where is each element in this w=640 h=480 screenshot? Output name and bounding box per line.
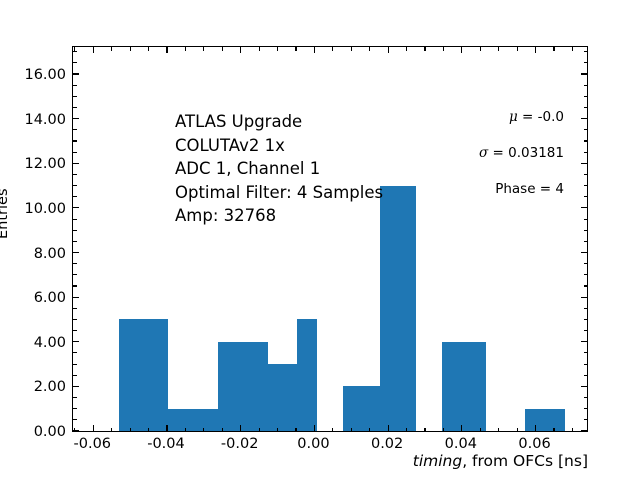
y-axis-tick-labels: 0.002.004.006.008.0010.0012.0014.0016.00 bbox=[0, 46, 66, 432]
axis-tick bbox=[581, 430, 587, 431]
axis-tick bbox=[517, 47, 518, 51]
axis-tick bbox=[73, 274, 77, 275]
axis-tick bbox=[480, 428, 481, 432]
y-tick-label: 16.00 bbox=[24, 68, 66, 83]
histogram-bar bbox=[380, 186, 417, 431]
axis-tick bbox=[73, 252, 79, 253]
axis-tick bbox=[73, 375, 77, 376]
stat-symbol: Phase bbox=[495, 181, 535, 197]
axis-tick bbox=[73, 163, 79, 164]
axis-tick bbox=[535, 47, 536, 53]
x-tick-label: 0.02 bbox=[371, 437, 403, 452]
axis-tick bbox=[73, 96, 77, 97]
axis-tick bbox=[93, 47, 94, 53]
x-axis-label-italic: timing bbox=[413, 452, 462, 470]
axis-tick bbox=[332, 428, 333, 432]
axis-tick bbox=[73, 341, 79, 342]
y-tick-label: 0.00 bbox=[34, 425, 66, 440]
axis-tick bbox=[277, 47, 278, 51]
x-tick-label: 0.00 bbox=[297, 437, 329, 452]
stats-annotation: μ = -0.0σ = 0.03181Phase = 4 bbox=[479, 109, 564, 197]
stat-symbol: μ bbox=[509, 109, 518, 125]
axis-tick bbox=[461, 47, 462, 53]
x-tick-label: -0.02 bbox=[221, 437, 259, 452]
x-tick-label: 0.06 bbox=[518, 437, 550, 452]
axis-tick bbox=[461, 425, 462, 431]
axis-tick bbox=[581, 163, 587, 164]
axis-tick bbox=[222, 47, 223, 51]
stat-symbol: σ bbox=[479, 145, 488, 161]
axis-tick bbox=[73, 241, 77, 242]
axis-tick bbox=[584, 397, 588, 398]
stat-line: Phase = 4 bbox=[479, 181, 564, 197]
axis-tick bbox=[572, 428, 573, 432]
info-annotation-line: COLUTAv2 1x bbox=[175, 134, 383, 158]
axis-tick bbox=[73, 174, 77, 175]
axis-tick bbox=[130, 47, 131, 51]
axis-tick bbox=[581, 252, 587, 253]
axis-tick bbox=[553, 428, 554, 432]
axis-tick bbox=[369, 428, 370, 432]
axis-tick bbox=[584, 196, 588, 197]
axis-tick bbox=[584, 185, 588, 186]
histogram-bar bbox=[297, 319, 317, 431]
histogram-bar bbox=[343, 386, 380, 431]
axis-tick bbox=[259, 47, 260, 51]
axis-tick bbox=[584, 129, 588, 130]
axis-tick bbox=[203, 428, 204, 432]
axis-tick bbox=[73, 319, 77, 320]
axis-tick bbox=[295, 47, 296, 51]
axis-tick bbox=[74, 428, 75, 432]
stat-line: σ = 0.03181 bbox=[479, 145, 564, 161]
info-annotation-line: ATLAS Upgrade bbox=[175, 110, 383, 134]
axis-tick bbox=[73, 263, 77, 264]
y-tick-label: 6.00 bbox=[34, 291, 66, 306]
histogram-figure: Entries 0.002.004.006.008.0010.0012.0014… bbox=[0, 0, 640, 480]
axis-tick bbox=[498, 47, 499, 51]
axis-tick bbox=[581, 297, 587, 298]
axis-tick bbox=[406, 428, 407, 432]
axis-tick bbox=[584, 107, 588, 108]
axis-tick bbox=[553, 47, 554, 51]
axis-tick bbox=[517, 428, 518, 432]
axis-tick bbox=[73, 297, 79, 298]
y-tick-label: 2.00 bbox=[34, 380, 66, 395]
axis-tick bbox=[73, 364, 77, 365]
axis-tick bbox=[240, 47, 241, 53]
info-annotation: ATLAS UpgradeCOLUTAv2 1xADC 1, Channel 1… bbox=[175, 110, 383, 228]
axis-tick bbox=[584, 308, 588, 309]
axis-tick bbox=[73, 73, 79, 74]
axis-tick bbox=[73, 129, 77, 130]
axis-tick bbox=[498, 428, 499, 432]
axis-tick bbox=[166, 47, 167, 53]
x-tick-label: 0.04 bbox=[445, 437, 477, 452]
axis-tick bbox=[443, 47, 444, 51]
axis-tick bbox=[73, 352, 77, 353]
axis-tick bbox=[73, 230, 77, 231]
axis-tick bbox=[73, 196, 77, 197]
axis-tick bbox=[581, 73, 587, 74]
axis-tick bbox=[166, 425, 167, 431]
info-annotation-line: Optimal Filter: 4 Samples bbox=[175, 181, 383, 205]
histogram-bar bbox=[442, 342, 486, 431]
axis-tick bbox=[424, 47, 425, 51]
histogram-bars bbox=[73, 47, 587, 431]
axis-tick bbox=[584, 285, 588, 286]
axis-tick bbox=[584, 174, 588, 175]
axis-tick bbox=[73, 140, 77, 141]
stat-value: = 0.03181 bbox=[488, 145, 564, 161]
axis-tick bbox=[259, 428, 260, 432]
axis-tick bbox=[581, 207, 587, 208]
axis-tick bbox=[73, 185, 77, 186]
axis-tick bbox=[584, 352, 588, 353]
axis-tick bbox=[185, 47, 186, 51]
axis-tick bbox=[584, 263, 588, 264]
axis-tick bbox=[584, 375, 588, 376]
y-tick-label: 10.00 bbox=[24, 202, 66, 217]
axis-tick bbox=[73, 419, 77, 420]
axis-tick bbox=[203, 47, 204, 51]
axis-tick bbox=[73, 285, 77, 286]
axis-tick bbox=[388, 47, 389, 53]
axis-tick bbox=[111, 428, 112, 432]
axis-tick bbox=[581, 386, 587, 387]
axis-tick bbox=[73, 408, 77, 409]
axis-tick bbox=[277, 428, 278, 432]
axis-tick bbox=[111, 47, 112, 51]
axis-tick bbox=[351, 428, 352, 432]
axis-tick bbox=[388, 425, 389, 431]
y-tick-label: 8.00 bbox=[34, 246, 66, 261]
axis-tick bbox=[148, 47, 149, 51]
axis-tick bbox=[584, 96, 588, 97]
axis-tick bbox=[369, 47, 370, 51]
axis-tick bbox=[73, 107, 77, 108]
axis-tick bbox=[443, 428, 444, 432]
axis-tick bbox=[73, 62, 77, 63]
axis-tick bbox=[572, 47, 573, 51]
axis-tick bbox=[73, 219, 77, 220]
axis-tick bbox=[584, 140, 588, 141]
stat-line: μ = -0.0 bbox=[479, 109, 564, 125]
y-tick-label: 4.00 bbox=[34, 336, 66, 351]
axis-tick bbox=[73, 207, 79, 208]
axis-tick bbox=[584, 230, 588, 231]
stat-value: = -0.0 bbox=[518, 109, 564, 125]
histogram-bar bbox=[525, 409, 566, 431]
axis-tick bbox=[73, 51, 77, 52]
axis-tick bbox=[130, 428, 131, 432]
axis-tick bbox=[584, 152, 588, 153]
axis-tick bbox=[584, 330, 588, 331]
axis-tick bbox=[581, 118, 587, 119]
axis-tick bbox=[73, 397, 77, 398]
axis-tick bbox=[480, 47, 481, 51]
axis-tick bbox=[295, 428, 296, 432]
axis-tick bbox=[424, 428, 425, 432]
plot-area: ATLAS UpgradeCOLUTAv2 1xADC 1, Channel 1… bbox=[72, 46, 588, 432]
x-axis-label: timing, from OFCs [ns] bbox=[72, 452, 588, 470]
axis-tick bbox=[584, 274, 588, 275]
axis-tick bbox=[222, 428, 223, 432]
axis-tick bbox=[73, 118, 79, 119]
axis-tick bbox=[584, 51, 588, 52]
histogram-bar bbox=[218, 342, 267, 431]
x-axis-label-rest: , from OFCs [ns] bbox=[462, 452, 588, 470]
axis-tick bbox=[406, 47, 407, 51]
info-annotation-line: ADC 1, Channel 1 bbox=[175, 157, 383, 181]
axis-tick bbox=[332, 47, 333, 51]
axis-tick bbox=[584, 62, 588, 63]
axis-tick bbox=[584, 85, 588, 86]
axis-tick bbox=[93, 425, 94, 431]
axis-tick bbox=[73, 152, 77, 153]
axis-tick bbox=[584, 319, 588, 320]
axis-tick bbox=[351, 47, 352, 51]
axis-tick bbox=[584, 419, 588, 420]
histogram-bar bbox=[268, 364, 297, 431]
axis-tick bbox=[73, 308, 77, 309]
axis-tick bbox=[314, 47, 315, 53]
axis-tick bbox=[584, 241, 588, 242]
axis-tick bbox=[73, 85, 77, 86]
axis-tick bbox=[73, 330, 77, 331]
axis-tick bbox=[185, 428, 186, 432]
histogram-bar bbox=[168, 409, 218, 431]
y-tick-label: 14.00 bbox=[24, 112, 66, 127]
axis-tick bbox=[148, 428, 149, 432]
histogram-bar bbox=[119, 319, 168, 431]
info-annotation-line: Amp: 32768 bbox=[175, 204, 383, 228]
axis-tick bbox=[584, 219, 588, 220]
axis-tick bbox=[535, 425, 536, 431]
x-tick-label: -0.04 bbox=[147, 437, 185, 452]
axis-tick bbox=[74, 47, 75, 51]
y-tick-label: 12.00 bbox=[24, 157, 66, 172]
axis-tick bbox=[314, 425, 315, 431]
stat-value: = 4 bbox=[536, 181, 564, 197]
axis-tick bbox=[584, 364, 588, 365]
axis-tick bbox=[240, 425, 241, 431]
axis-tick bbox=[584, 408, 588, 409]
axis-tick bbox=[581, 341, 587, 342]
axis-tick bbox=[73, 386, 79, 387]
x-tick-label: -0.06 bbox=[74, 437, 112, 452]
